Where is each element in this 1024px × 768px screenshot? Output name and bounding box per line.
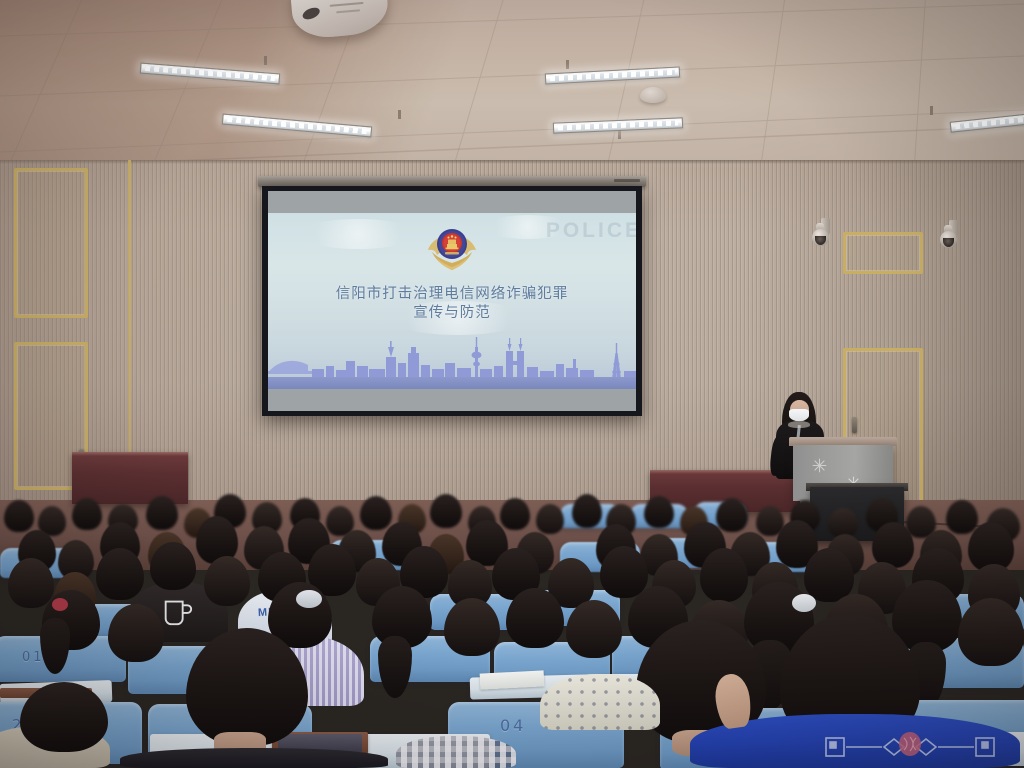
presentation-slide: POLICE [268, 213, 636, 389]
slide-title-line-2: 宣传与防范 [268, 304, 636, 323]
hair-scrunchie [296, 590, 322, 608]
slide-title-line-1: 信阳市打击治理电信网络诈骗犯罪 [268, 285, 636, 304]
audience-head [946, 500, 978, 534]
audience-head [96, 548, 144, 600]
dome-security-camera-left [812, 218, 829, 248]
police-watermark-text: POLICE [546, 219, 636, 243]
audience-head [536, 504, 564, 534]
audience-head [430, 494, 462, 528]
ceiling [0, 0, 1024, 172]
slide-cloud [298, 219, 418, 249]
lecture-hall-photo: POLICE [0, 0, 1024, 768]
audience-head [700, 548, 748, 602]
audience-head [72, 498, 102, 530]
fixture-hanger [618, 130, 621, 139]
mug-print-graphic [158, 594, 196, 628]
audience-head [146, 496, 178, 530]
right-door-transom [843, 232, 923, 274]
audience-head [108, 604, 164, 662]
polka-dot-blouse [540, 674, 660, 730]
projector-vent [336, 9, 360, 13]
right-door-handle[interactable] [852, 417, 857, 433]
projector-vent [330, 2, 364, 7]
checked-shirt [396, 736, 516, 768]
fixture-hanger [398, 110, 401, 119]
projection-screen-surface: POLICE [268, 191, 636, 411]
audience-head [600, 546, 648, 598]
slide-title: 信阳市打击治理电信网络诈骗犯罪 宣传与防范 [268, 285, 636, 323]
fixture-hanger [264, 56, 267, 65]
wall-gold-seam-left [128, 160, 131, 490]
hair-scrunchie [792, 594, 816, 612]
audience-head [444, 598, 500, 656]
audience-head [150, 542, 196, 590]
dome-security-camera-right [940, 220, 957, 250]
audience-head [572, 494, 602, 528]
audience-head [566, 600, 622, 658]
audience-head [360, 496, 392, 530]
face-mask-icon [789, 409, 809, 421]
audience-head [8, 558, 54, 608]
snowflake-emblem-icon [811, 457, 828, 474]
hair-scrunchie-red [52, 598, 68, 611]
audience-head [204, 556, 250, 606]
open-notebook [480, 670, 545, 689]
fixture-hanger [930, 106, 933, 115]
smoke-detector [640, 87, 666, 103]
ponytail [378, 636, 412, 698]
blue-shirt-graphic [820, 728, 1000, 768]
audience-head [500, 498, 530, 530]
foreground-student-torso [120, 748, 388, 768]
china-police-badge [425, 224, 479, 274]
audience-head [804, 548, 854, 602]
audience: MPION 01 [0, 486, 1024, 768]
projection-screen: POLICE [262, 186, 642, 416]
left-door-upper-panel [14, 168, 88, 318]
slide-ground-band [268, 377, 636, 389]
fixture-hanger [566, 60, 569, 69]
ceiling-tile-grid [0, 0, 1024, 172]
audience-head [872, 522, 914, 568]
audience-head [644, 496, 674, 528]
projector-lens [301, 5, 321, 21]
audience-head [506, 588, 564, 648]
audience-head [4, 500, 34, 532]
audience-head [716, 498, 748, 532]
seat-number-04: 04 [500, 716, 526, 735]
